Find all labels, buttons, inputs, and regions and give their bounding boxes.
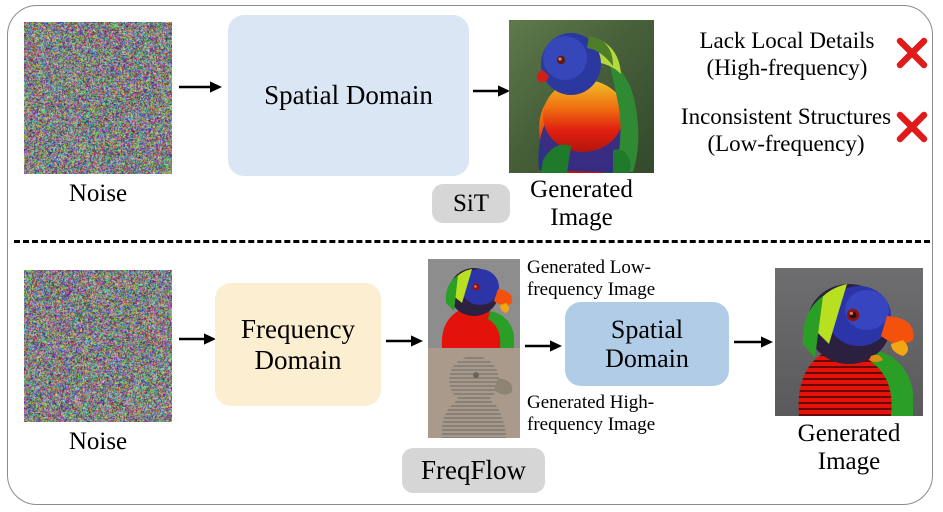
arrow-frequency-to-subimages [385, 332, 425, 350]
frequency-domain-label-line2: Domain [255, 345, 342, 375]
low-frequency-note-line1: Generated Low- [527, 257, 651, 278]
x-mark-icon-2 [895, 110, 929, 144]
generated-caption-bottom-line2: Image [818, 448, 880, 475]
generated-caption-bottom: Generated Image [765, 420, 933, 476]
section-divider [14, 240, 930, 243]
issue-2-line1: Inconsistent Structures [681, 104, 891, 129]
figure-canvas: Noise Spatial Domain SiT [0, 0, 943, 512]
low-frequency-note: Generated Low- frequency Image [527, 257, 677, 301]
high-frequency-note: Generated High- frequency Image [527, 392, 677, 436]
spatial-domain-label-bottom-line1: Spatial [611, 315, 683, 344]
parrot-illustration-top [509, 20, 654, 173]
spatial-domain-label-top: Spatial Domain [264, 80, 433, 110]
issue-1-line2: (High-frequency) [707, 55, 868, 80]
issue-note-high-frequency: Lack Local Details (High-frequency) [676, 28, 898, 81]
frequency-domain-label-line1: Frequency [241, 314, 355, 344]
method-pill-freqflow: FreqFlow [402, 448, 545, 493]
arrow-spatial-to-generated-top [472, 82, 512, 100]
parrot-illustration-low-frequency [428, 259, 520, 348]
frequency-domain-label: Frequency Domain [241, 314, 355, 374]
generated-image-bottom [775, 268, 923, 416]
method-pill-freqflow-label: FreqFlow [421, 455, 526, 486]
generated-caption-bottom-line1: Generated [798, 420, 901, 447]
x-mark-icon-1 [895, 36, 929, 70]
issue-note-low-frequency: Inconsistent Structures (Low-frequency) [664, 104, 908, 157]
noise-image-top [24, 22, 172, 174]
high-frequency-note-line1: Generated High- [527, 392, 654, 413]
spatial-domain-box-bottom: Spatial Domain [565, 302, 729, 386]
generated-low-frequency-image [428, 259, 520, 348]
low-frequency-note-line2: frequency Image [527, 279, 655, 300]
arrow-noise-to-spatial-top [178, 78, 224, 96]
arrow-noise-to-frequency [178, 330, 218, 348]
generated-caption-top-line1: Generated [530, 176, 633, 203]
high-frequency-note-line2: frequency Image [527, 414, 655, 435]
generated-caption-top-line2: Image [550, 204, 612, 231]
spatial-domain-label-bottom-line2: Domain [605, 344, 689, 373]
parrot-illustration-high-frequency [428, 348, 520, 438]
method-pill-sit-label: SiT [453, 190, 489, 218]
noise-texture [24, 270, 172, 422]
noise-image-bottom [24, 270, 172, 422]
spatial-domain-box-top: Spatial Domain [228, 15, 469, 176]
frequency-domain-box: Frequency Domain [215, 283, 381, 406]
arrow-spatial-to-generated-bottom [733, 333, 775, 351]
noise-caption-bottom: Noise [24, 428, 172, 456]
issue-2-line2: (Low-frequency) [707, 131, 864, 156]
spatial-domain-label-bottom: Spatial Domain [605, 315, 689, 373]
noise-texture [24, 22, 172, 174]
noise-caption-top: Noise [24, 180, 172, 208]
issue-1-line1: Lack Local Details [700, 28, 875, 53]
generated-image-top [509, 20, 654, 173]
parrot-illustration-bottom [775, 268, 923, 416]
arrow-subimages-to-spatial [524, 337, 564, 355]
generated-high-frequency-image [428, 348, 520, 438]
generated-caption-top: Generated Image [499, 176, 664, 232]
